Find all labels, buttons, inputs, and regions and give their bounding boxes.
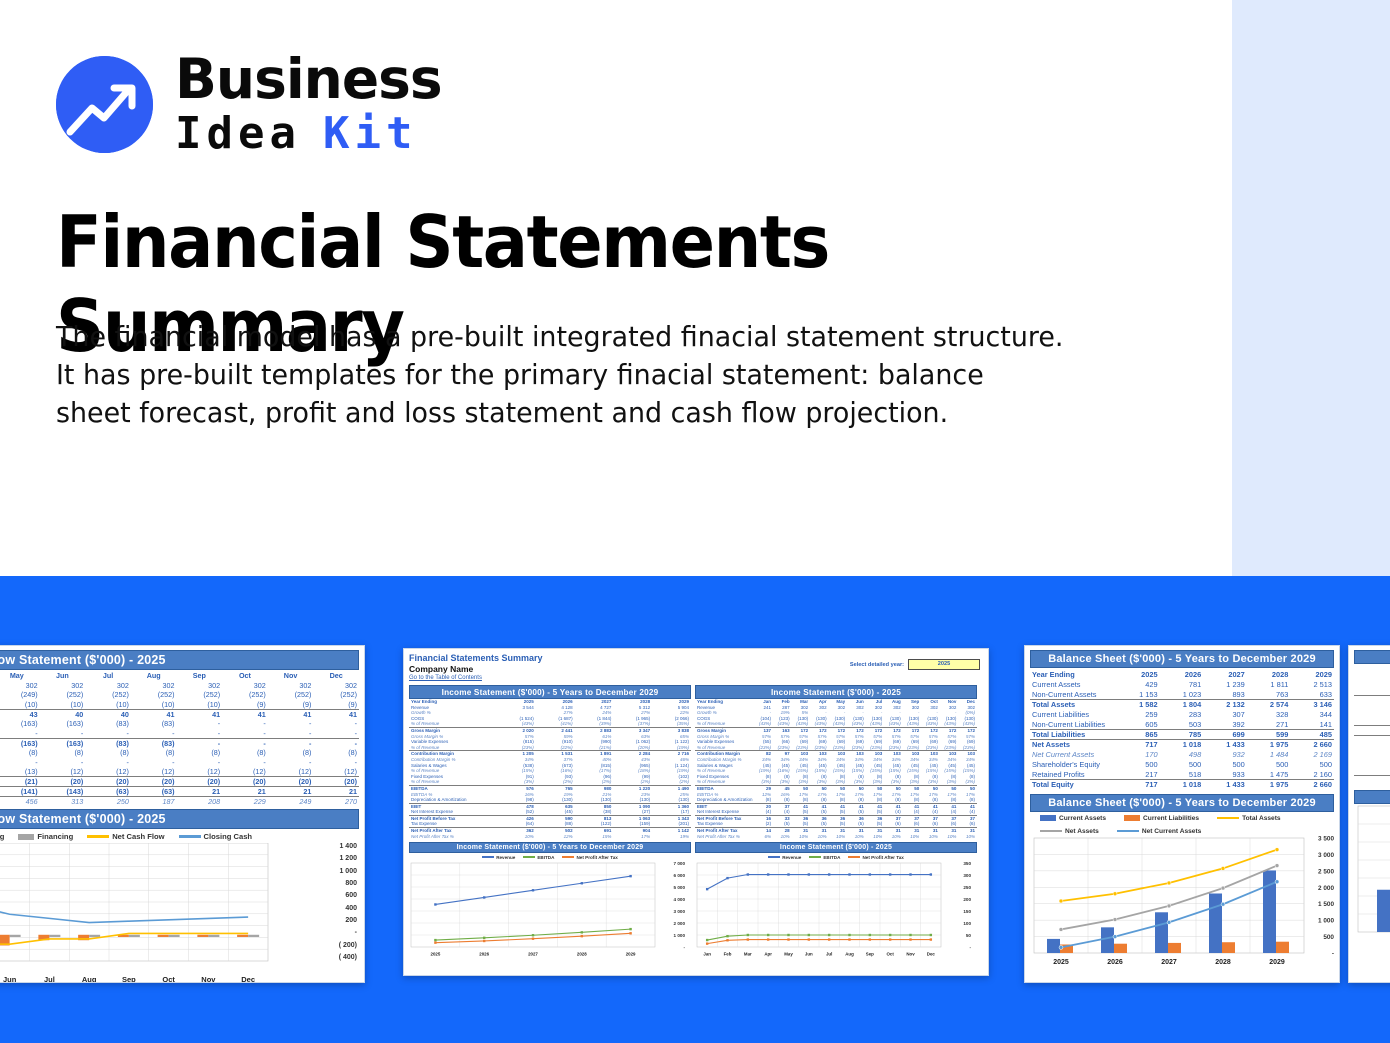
legend-item: Net Profit After Tax (848, 855, 903, 860)
legend-item: Total Assets (1217, 815, 1280, 822)
table-cell: (8) (131, 748, 177, 758)
table-cell: 456 (0, 797, 40, 807)
table-cell: (10) (177, 700, 223, 710)
table-row: 1 297 (1354, 696, 1390, 706)
svg-text:2028: 2028 (577, 952, 587, 957)
y-tick-label: 200 (339, 917, 357, 924)
column-header: Jan (1354, 666, 1390, 676)
legend-swatch (768, 856, 780, 858)
balance-sheet-chart: 3 5003 0002 5002 0001 5001 000500-202520… (1030, 836, 1334, 966)
table-cell: 518 (1160, 770, 1204, 780)
legend-item: Net Assets (1040, 828, 1099, 835)
table-cell: (10) (0, 700, 40, 710)
table-cell: (63) (85, 787, 131, 797)
table-cell: 1 081 (1354, 746, 1390, 756)
table-cell: 500 (1290, 760, 1334, 770)
table-cell: (252) (313, 690, 359, 700)
table-cell: 1 433 (1203, 780, 1247, 790)
table-row: (8)(8)(8)(8)(8)(8)(8)(8) (0, 748, 359, 758)
monthly-income-chart: 35030025020015010050-JanFebMarAprMayJunJ… (695, 861, 977, 957)
table-cell: - (268, 729, 314, 739)
table-row: Year Ending20252026202720282029 (1030, 670, 1334, 680)
legend-swatch (1124, 815, 1140, 821)
table-cell: - (0, 729, 40, 739)
legend-swatch (562, 856, 574, 858)
balance-sheet-table-title: Balance Sheet ($'000) - 5 Years to Decem… (1030, 650, 1334, 668)
table-cell: (83) (85, 719, 131, 729)
legend-label: Net Profit After Tax (862, 855, 903, 860)
legend-swatch (848, 856, 860, 858)
table-cell: 259 (1116, 710, 1160, 720)
table-cell: - (177, 738, 223, 748)
table-cell: - (313, 729, 359, 739)
table-row: Total Equity7171 0181 4331 9752 660 (1030, 780, 1334, 790)
table-cell: (252) (177, 690, 223, 700)
table-cell: 932 (1203, 750, 1247, 760)
svg-text:-: - (1332, 950, 1334, 957)
table-cell: (163) (0, 738, 40, 748)
table-cell: 10% (958, 834, 977, 840)
select-year-input[interactable]: 2025 (908, 659, 980, 670)
table-cell: (252) (222, 690, 268, 700)
svg-text:3 000: 3 000 (1318, 851, 1334, 858)
brand-name-business: Business (175, 52, 442, 107)
table-cell: (12) (268, 767, 314, 777)
table-cell: 781 (1160, 680, 1204, 690)
table-cell: (20) (268, 777, 314, 787)
table-cell: 17% (613, 834, 652, 840)
table-cell: 717 (1116, 780, 1160, 790)
table-cell: 41 (131, 709, 177, 719)
svg-text:2026: 2026 (1107, 959, 1123, 966)
table-cell: 763 (1247, 690, 1291, 700)
table-cell: 605 (1116, 720, 1160, 730)
y-tick-label: 1 400 (339, 843, 357, 850)
row-label: Net Assets (1030, 740, 1116, 750)
table-cell: 208 (177, 797, 223, 807)
table-row: 692 (1354, 716, 1390, 726)
table-cell: 249 (268, 797, 314, 807)
table-cell: (12) (40, 767, 86, 777)
svg-text:2029: 2029 (626, 952, 636, 957)
table-cell: 2 160 (1290, 770, 1334, 780)
table-cell: (83) (85, 738, 131, 748)
legend-label: Current Liabilities (1143, 815, 1199, 822)
svg-text:2025: 2025 (431, 952, 441, 957)
svg-text:6 000: 6 000 (674, 873, 686, 878)
column-header: Sep (177, 671, 223, 681)
table-cell: 19% (652, 834, 691, 840)
legend-label: Net Profit After Tax (576, 855, 617, 860)
table-row: Retained Profits2175189331 4752 160 (1030, 770, 1334, 780)
cash-flow-chart-legend: InvestingFinancingNet Cash FlowClosing C… (0, 829, 359, 843)
table-cell: 692 (1354, 716, 1390, 726)
table-cell: (12) (222, 767, 268, 777)
table-cell: 1 018 (1160, 780, 1204, 790)
svg-text:2027: 2027 (528, 952, 538, 957)
table-cell: (8) (177, 748, 223, 758)
svg-text:150: 150 (963, 909, 971, 914)
legend-label: Net Current Assets (1142, 828, 1201, 835)
x-tick-label: Jun (0, 975, 30, 983)
legend-label: EBITDA (537, 855, 554, 860)
y-tick-label: ( 400) (339, 954, 357, 961)
legend-item: Revenue (768, 855, 801, 860)
svg-text:2025: 2025 (1053, 959, 1069, 966)
legend-label: Revenue (782, 855, 801, 860)
table-cell: 3 146 (1290, 700, 1334, 710)
table-cell: 500 (1116, 760, 1160, 770)
table-cell: 10% (497, 834, 536, 840)
table-row: Net Assets7171 0181 4331 9752 660 (1030, 740, 1334, 750)
table-cell: 12% (536, 834, 575, 840)
table-cell: 1 153 (1116, 690, 1160, 700)
table-cell: 500 (1354, 756, 1390, 766)
table-cell: 717 (1116, 740, 1160, 750)
legend-swatch (1040, 830, 1062, 833)
svg-text:2 000: 2 000 (1318, 884, 1334, 891)
table-cell: (12) (313, 767, 359, 777)
table-cell: 500 (1247, 760, 1291, 770)
row-label: Current Liabilities (1030, 710, 1116, 720)
svg-text:Jul: Jul (826, 952, 832, 957)
table-cell: 512 (1354, 736, 1390, 746)
legend-label: Net Cash Flow (112, 832, 164, 841)
table-row: (13)(12)(12)(12)(12)(12)(12)(12) (0, 767, 359, 777)
monthly-balance-sheet-screenshot-card[interactable]: Jan1 1741241 297936927865121 08150012512… (1348, 645, 1390, 983)
table-cell: 2 574 (1247, 700, 1291, 710)
table-cell: 250 (85, 797, 131, 807)
table-cell: 2025 (1116, 670, 1160, 680)
cash-flow-table: MayJunJulAugSepOctNovDec3023023023023023… (0, 671, 359, 806)
table-cell: - (268, 757, 314, 767)
legend-swatch (809, 856, 821, 858)
table-row: 512 (1354, 736, 1390, 746)
legend-item: Net Current Assets (1117, 828, 1201, 835)
table-row: Total Assets1 5821 8042 1322 5743 146 (1030, 700, 1334, 710)
table-cell: (21) (0, 777, 40, 787)
table-cell: 485 (1290, 730, 1334, 740)
table-cell: (9) (268, 700, 314, 710)
cash-flow-screenshot-card[interactable]: Cash Flow Statement ($'000) - 2025 MayJu… (0, 645, 365, 983)
column-header: May (0, 671, 40, 681)
table-cell: (10) (85, 700, 131, 710)
table-row: Shareholder's Equity500500500500500 (1030, 760, 1334, 770)
select-year-control[interactable]: Select detailed year: 2025 (850, 659, 980, 670)
annual-income-statement-title: Income Statement ($'000) - 5 Years to De… (409, 685, 691, 699)
legend-label: Financing (37, 832, 73, 841)
table-cell: 10% (792, 834, 811, 840)
table-cell: 786 (1354, 726, 1390, 736)
row-label: Net Profit After Tax % (409, 834, 497, 840)
monthly-balance-table: Jan1 1741241 297936927865121 08150012512 (1354, 666, 1390, 786)
legend-swatch (1217, 817, 1239, 820)
table-cell: 21 (268, 787, 314, 797)
y-tick-label: 600 (339, 892, 357, 899)
monthly-income-statement-table: Year EndingJanFebMarAprMayJunJulAugSepOc… (695, 699, 977, 839)
table-row: 124 (1354, 686, 1390, 696)
svg-text:Nov: Nov (906, 952, 915, 957)
svg-text:Oct: Oct (887, 952, 895, 957)
table-cell: (83) (131, 738, 177, 748)
table-cell: 302 (85, 681, 131, 691)
legend-label: Total Assets (1242, 815, 1280, 822)
cash-flow-table-title: Cash Flow Statement ($'000) - 2025 (0, 650, 359, 670)
legend-label: Net Assets (1065, 828, 1099, 835)
table-cell: 10% (847, 834, 866, 840)
svg-text:Aug: Aug (845, 952, 854, 957)
svg-text:Feb: Feb (724, 952, 732, 957)
column-header: Dec (313, 671, 359, 681)
table-cell: 271 (1247, 720, 1291, 730)
table-cell: 40 (85, 709, 131, 719)
table-cell: 10% (921, 834, 940, 840)
svg-text:4 000: 4 000 (674, 897, 686, 902)
table-cell: (63) (131, 787, 177, 797)
table-cell: (12) (177, 767, 223, 777)
table-cell: (141) (0, 787, 40, 797)
legend-item: Revenue (482, 855, 515, 860)
svg-text:100: 100 (963, 921, 971, 926)
table-cell: (20) (222, 777, 268, 787)
table-cell: (163) (40, 719, 86, 729)
table-cell: 633 (1290, 690, 1334, 700)
row-label: Total Liabilities (1030, 730, 1116, 740)
annual-income-chart: 7 0006 0005 0004 0003 0002 0001 000-2025… (409, 861, 691, 957)
svg-text:Jun: Jun (805, 952, 813, 957)
y-tick-label: 1 000 (339, 868, 357, 875)
legend-swatch (482, 856, 494, 858)
table-cell: 10% (810, 834, 829, 840)
table-cell: 1 975 (1247, 780, 1291, 790)
svg-text:2027: 2027 (1161, 959, 1177, 966)
svg-text:5 000: 5 000 (674, 885, 686, 890)
legend-item: EBITDA (523, 855, 554, 860)
y-tick-label: ( 200) (339, 942, 357, 949)
table-cell: 21 (222, 787, 268, 797)
table-cell: - (222, 757, 268, 767)
row-label: Current Assets (1030, 680, 1116, 690)
table-cell: 10% (773, 834, 792, 840)
table-row: 93 (1354, 706, 1390, 716)
table-cell: 302 (313, 681, 359, 691)
table-cell: (252) (131, 690, 177, 700)
x-tick-label: Nov (189, 975, 229, 983)
table-cell: 229 (222, 797, 268, 807)
table-cell: 498 (1160, 750, 1204, 760)
row-label: Total Equity (1030, 780, 1116, 790)
balance-sheet-screenshot-card[interactable]: Balance Sheet ($'000) - 5 Years to Decem… (1024, 645, 1340, 983)
legend-swatch (179, 835, 201, 838)
table-row: -------- (0, 729, 359, 739)
table-row: (163)(163)(83)(83)---- (0, 719, 359, 729)
svg-text:Jan: Jan (703, 952, 711, 957)
table-cell: (252) (268, 690, 314, 700)
table-cell: 41 (313, 709, 359, 719)
table-cell: - (222, 719, 268, 729)
table-cell: 217 (1116, 770, 1160, 780)
legend-label: Closing Cash (204, 832, 253, 841)
legend-swatch (1117, 830, 1139, 833)
monthly-balance-chart: Jan (1354, 804, 1390, 954)
svg-text:3 500: 3 500 (1318, 836, 1334, 843)
table-cell: (9) (222, 700, 268, 710)
column-header: Aug (131, 671, 177, 681)
table-row: 12 (1354, 766, 1390, 776)
table-cell: - (177, 757, 223, 767)
table-header-row: MayJunJulAugSepOctNovDec (0, 671, 359, 681)
svg-text:2026: 2026 (479, 952, 489, 957)
table-row: -------- (0, 757, 359, 767)
slide-root: Business Idea Kit Financial Statements S… (0, 0, 1390, 1043)
column-header: Nov (268, 671, 314, 681)
table-cell: 2 660 (1290, 740, 1334, 750)
table-cell: (252) (85, 690, 131, 700)
table-cell: - (85, 757, 131, 767)
monthly-income-chart-legend: RevenueEBITDANet Profit After Tax (695, 853, 977, 861)
table-cell: (8) (85, 748, 131, 758)
table-row: 302302302302302302302302 (0, 681, 359, 691)
table-row: 500 (1354, 756, 1390, 766)
table-cell: 2027 (1203, 670, 1247, 680)
row-label: Non-Current Liabilities (1030, 720, 1116, 730)
table-cell: 124 (1354, 686, 1390, 696)
table-cell: 141 (1290, 720, 1334, 730)
right-accent-band (1232, 0, 1390, 576)
table-cell: 328 (1247, 710, 1291, 720)
table-cell: 344 (1290, 710, 1334, 720)
row-label: Shareholder's Equity (1030, 760, 1116, 770)
table-row: Current Assets4297811 2391 8112 513 (1030, 680, 1334, 690)
table-cell: 302 (177, 681, 223, 691)
column-header: Jul (85, 671, 131, 681)
growth-arrow-icon (56, 56, 153, 153)
svg-text:2028: 2028 (1215, 959, 1231, 966)
table-cell: 392 (1203, 720, 1247, 730)
row-label: Non-Current Assets (1030, 690, 1116, 700)
table-row: Current Liabilities259283307328344 (1030, 710, 1334, 720)
table-cell: 302 (268, 681, 314, 691)
row-label: Year Ending (1030, 670, 1116, 680)
table-cell: 40 (40, 709, 86, 719)
table-cell: - (222, 729, 268, 739)
table-cell: (83) (131, 719, 177, 729)
legend-item: EBITDA (809, 855, 840, 860)
table-cell: 503 (1160, 720, 1204, 730)
table-cell: 302 (40, 681, 86, 691)
monthly-income-chart-title: Income Statement ($'000) - 2025 (695, 842, 977, 853)
svg-text:300: 300 (963, 873, 971, 878)
table-cell: (20) (40, 777, 86, 787)
table-row: 786 (1354, 726, 1390, 736)
table-cell: 1 484 (1247, 750, 1291, 760)
table-cell: - (131, 757, 177, 767)
x-tick-label: Dec (228, 975, 268, 983)
table-cell: - (268, 719, 314, 729)
svg-text:2029: 2029 (1269, 959, 1285, 966)
row-label: Depreciation & Amortization (695, 797, 755, 803)
table-cell: 500 (1160, 760, 1204, 770)
table-cell: 893 (1203, 690, 1247, 700)
legend-label: Current Assets (1059, 815, 1106, 822)
table-cell: 1 023 (1160, 690, 1204, 700)
table-cell: 1 582 (1116, 700, 1160, 710)
y-tick-label: 800 (339, 880, 357, 887)
table-cell: 41 (222, 709, 268, 719)
table-cell: 41 (268, 709, 314, 719)
table-cell: 12 (1354, 766, 1390, 776)
y-tick-label: 1 200 (339, 855, 357, 862)
svg-text:-: - (683, 945, 685, 950)
brand-name-kit: Kit (323, 112, 417, 156)
table-cell: (163) (0, 719, 40, 729)
legend-label: Revenue (496, 855, 515, 860)
svg-text:2 500: 2 500 (1318, 868, 1334, 875)
svg-text:1 000: 1 000 (1318, 917, 1334, 924)
legend-item: Current Liabilities (1124, 815, 1199, 822)
column-header: Oct (222, 671, 268, 681)
table-cell: 699 (1203, 730, 1247, 740)
table-cell: (10) (40, 700, 86, 710)
table-of-contents-link[interactable]: Go to the Table of Contents (409, 675, 983, 681)
table-row: 1 081 (1354, 746, 1390, 756)
table-cell: - (131, 729, 177, 739)
table-cell: 283 (1160, 710, 1204, 720)
table-cell: 1 174 (1354, 676, 1390, 686)
balance-sheet-chart-title: Balance Sheet ($'000) - 5 Years to Decem… (1030, 794, 1334, 812)
brand-name-idea: Idea (175, 112, 301, 156)
balance-sheet-chart-legend: Current AssetsCurrent LiabilitiesTotal A… (1030, 812, 1334, 836)
table-cell: - (177, 719, 223, 729)
table-cell: 500 (1203, 760, 1247, 770)
svg-text:50: 50 (966, 933, 972, 938)
summary-screenshot-card[interactable]: Financial Statements Summary Company Nam… (403, 648, 989, 976)
table-cell: 170 (1116, 750, 1160, 760)
svg-text:1 000: 1 000 (674, 933, 686, 938)
table-cell: 599 (1247, 730, 1291, 740)
svg-text:350: 350 (963, 861, 971, 866)
table-row: Total Liabilities865785699599485 (1030, 730, 1334, 740)
table-cell: 10% (866, 834, 885, 840)
table-cell: 21 (313, 787, 359, 797)
table-cell: 512 (1354, 776, 1390, 786)
x-tick-label: Sep (109, 975, 149, 983)
table-cell: - (85, 729, 131, 739)
table-cell: (10) (131, 700, 177, 710)
legend-item: Current Assets (1040, 815, 1106, 822)
table-cell: - (40, 729, 86, 739)
table-row: 1 174 (1354, 676, 1390, 686)
legend-item: Financing (18, 832, 73, 841)
legend-item: Investing (0, 832, 4, 841)
annual-income-statement-table: Year Ending20252026202720282029Revenue3 … (409, 699, 691, 839)
table-cell: 2 660 (1290, 780, 1334, 790)
table-row: Net Profit After Tax %10%12%15%17%19% (409, 834, 691, 840)
table-cell: 21 (177, 787, 223, 797)
table-row: Non-Current Liabilities605503392271141 (1030, 720, 1334, 730)
table-row: (249)(252)(252)(252)(252)(252)(252)(252) (0, 690, 359, 700)
row-label: Retained Profits (1030, 770, 1116, 780)
table-cell: 1 239 (1203, 680, 1247, 690)
table-cell: 10% (884, 834, 903, 840)
table-cell: 933 (1203, 770, 1247, 780)
table-row: Net Profit After Tax %6%10%10%10%10%10%1… (695, 834, 977, 840)
page-description: The financial model has a pre-built inte… (56, 318, 1064, 432)
svg-text:7 000: 7 000 (674, 861, 686, 866)
table-cell: 302 (0, 681, 40, 691)
svg-text:-: - (969, 945, 971, 950)
table-cell: 1 804 (1160, 700, 1204, 710)
